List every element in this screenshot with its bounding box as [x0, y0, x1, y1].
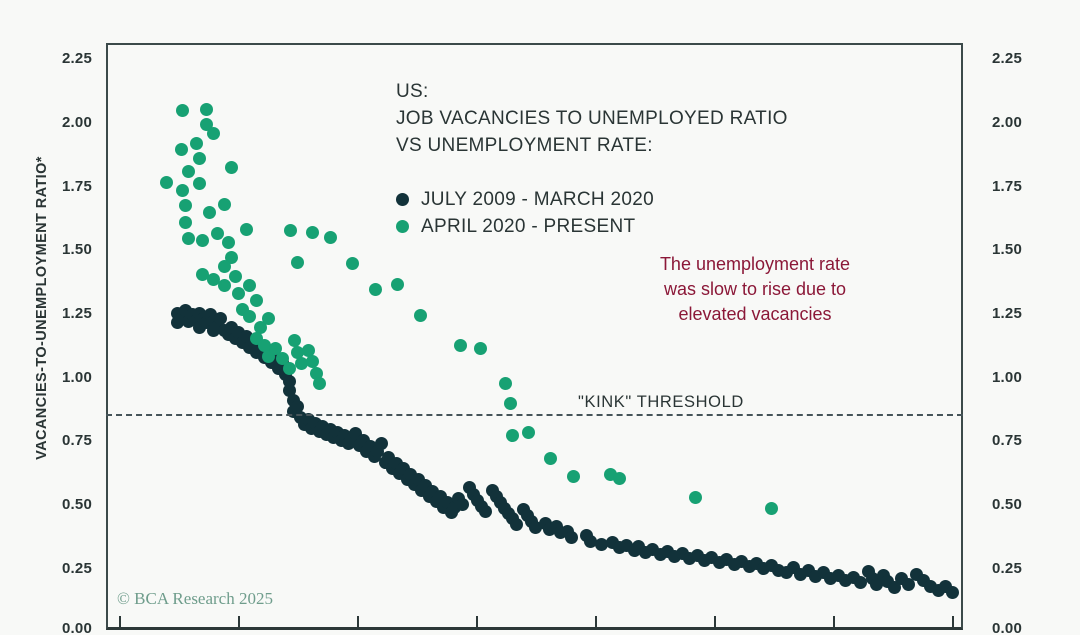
legend-label-post: APRIL 2020 - PRESENT: [421, 216, 635, 238]
y-tick-right-2.25: 2.25: [992, 50, 1062, 67]
data-point: [375, 437, 388, 450]
chart-annotation: The unemployment rate was slow to rise d…: [620, 252, 890, 327]
data-point: [229, 270, 242, 283]
data-point: [765, 502, 778, 515]
data-point: [499, 377, 512, 390]
data-point: [689, 491, 702, 504]
y-tick-left-1.00: 1.00: [22, 369, 92, 386]
data-point: [479, 505, 492, 518]
data-point: [203, 206, 216, 219]
data-point: [218, 260, 231, 273]
y-tick-right-0.25: 0.25: [992, 560, 1062, 577]
data-point: [854, 576, 867, 589]
legend-dot-icon: [396, 193, 409, 206]
y-tick-right-1.75: 1.75: [992, 178, 1062, 195]
data-point: [284, 224, 297, 237]
data-point: [218, 279, 231, 292]
y-tick-left-2.00: 2.00: [22, 114, 92, 131]
data-point: [243, 279, 256, 292]
data-point: [510, 518, 523, 531]
data-point: [225, 161, 238, 174]
data-point: [613, 472, 626, 485]
data-point: [522, 426, 535, 439]
data-point: [250, 294, 263, 307]
y-tick-left-0.00: 0.00: [22, 620, 92, 635]
legend-item-pre[interactable]: JULY 2009 - MARCH 2020: [396, 186, 654, 213]
chart-legend: JULY 2009 - MARCH 2020 APRIL 2020 - PRES…: [396, 186, 654, 240]
y-tick-left-1.50: 1.50: [22, 241, 92, 258]
data-point: [240, 223, 253, 236]
y-tick-left-2.25: 2.25: [22, 50, 92, 67]
data-point: [200, 103, 213, 116]
data-point: [391, 278, 404, 291]
x-tick-mark: [119, 616, 121, 630]
y-tick-right-0.50: 0.50: [992, 496, 1062, 513]
data-point: [454, 339, 467, 352]
y-tick-right-2.00: 2.00: [992, 114, 1062, 131]
data-point: [306, 355, 319, 368]
x-tick-mark: [952, 616, 954, 630]
data-point: [291, 256, 304, 269]
y-tick-right-0.75: 0.75: [992, 432, 1062, 449]
data-point: [506, 429, 519, 442]
x-tick-mark: [476, 616, 478, 630]
data-point: [160, 176, 173, 189]
data-point: [565, 531, 578, 544]
data-point: [346, 257, 359, 270]
data-point: [232, 287, 245, 300]
legend-item-post[interactable]: APRIL 2020 - PRESENT: [396, 213, 654, 240]
y-tick-right-1.00: 1.00: [992, 369, 1062, 386]
data-point: [179, 216, 192, 229]
data-point: [544, 452, 557, 465]
title-line-2: JOB VACANCIES TO UNEMPLOYED RATIO: [396, 105, 788, 132]
data-point: [182, 165, 195, 178]
y-tick-left-0.50: 0.50: [22, 496, 92, 513]
data-point: [414, 309, 427, 322]
x-tick-mark: [357, 616, 359, 630]
data-point: [324, 231, 337, 244]
chart-title: US: JOB VACANCIES TO UNEMPLOYED RATIO VS…: [396, 78, 788, 159]
x-tick-mark: [595, 616, 597, 630]
data-point: [222, 236, 235, 249]
y-tick-right-0.00: 0.00: [992, 620, 1062, 635]
data-point: [283, 362, 296, 375]
data-point: [182, 232, 195, 245]
annotation-line-3: elevated vacancies: [620, 302, 890, 327]
data-point: [211, 227, 224, 240]
data-point: [207, 127, 220, 140]
data-point: [306, 226, 319, 239]
data-point: [179, 199, 192, 212]
data-point: [262, 312, 275, 325]
data-point: [196, 234, 209, 247]
data-point: [313, 377, 326, 390]
data-point: [243, 310, 256, 323]
data-point: [193, 152, 206, 165]
data-point: [193, 177, 206, 190]
data-point: [474, 342, 487, 355]
data-point: [176, 184, 189, 197]
y-tick-left-0.75: 0.75: [22, 432, 92, 449]
y-tick-left-1.75: 1.75: [22, 178, 92, 195]
y-tick-right-1.25: 1.25: [992, 305, 1062, 322]
copyright-notice: © BCA Research 2025: [117, 589, 273, 609]
y-tick-left-0.25: 0.25: [22, 560, 92, 577]
kink-threshold-line: [106, 414, 963, 416]
data-point: [946, 586, 959, 599]
data-point: [567, 470, 580, 483]
x-tick-mark: [714, 616, 716, 630]
data-point: [369, 283, 382, 296]
y-tick-left-1.25: 1.25: [22, 305, 92, 322]
title-line-1: US:: [396, 78, 788, 105]
chart-root: VACANCIES-TO-UNEMPLOYMENT RATIO* 2.25 2.…: [0, 0, 1080, 635]
data-point: [456, 498, 469, 511]
kink-threshold-label: "KINK" THRESHOLD: [578, 393, 744, 412]
legend-dot-icon: [396, 220, 409, 233]
data-point: [176, 104, 189, 117]
data-point: [214, 312, 227, 325]
annotation-line-2: was slow to rise due to: [620, 277, 890, 302]
data-point: [504, 397, 517, 410]
legend-label-pre: JULY 2009 - MARCH 2020: [421, 189, 654, 211]
y-tick-right-1.50: 1.50: [992, 241, 1062, 258]
data-point: [218, 198, 231, 211]
title-line-3: VS UNEMPLOYMENT RATE:: [396, 132, 788, 159]
x-tick-mark: [833, 616, 835, 630]
annotation-line-1: The unemployment rate: [620, 252, 890, 277]
data-point: [175, 143, 188, 156]
data-point: [190, 137, 203, 150]
data-point: [288, 334, 301, 347]
x-tick-mark: [238, 616, 240, 630]
